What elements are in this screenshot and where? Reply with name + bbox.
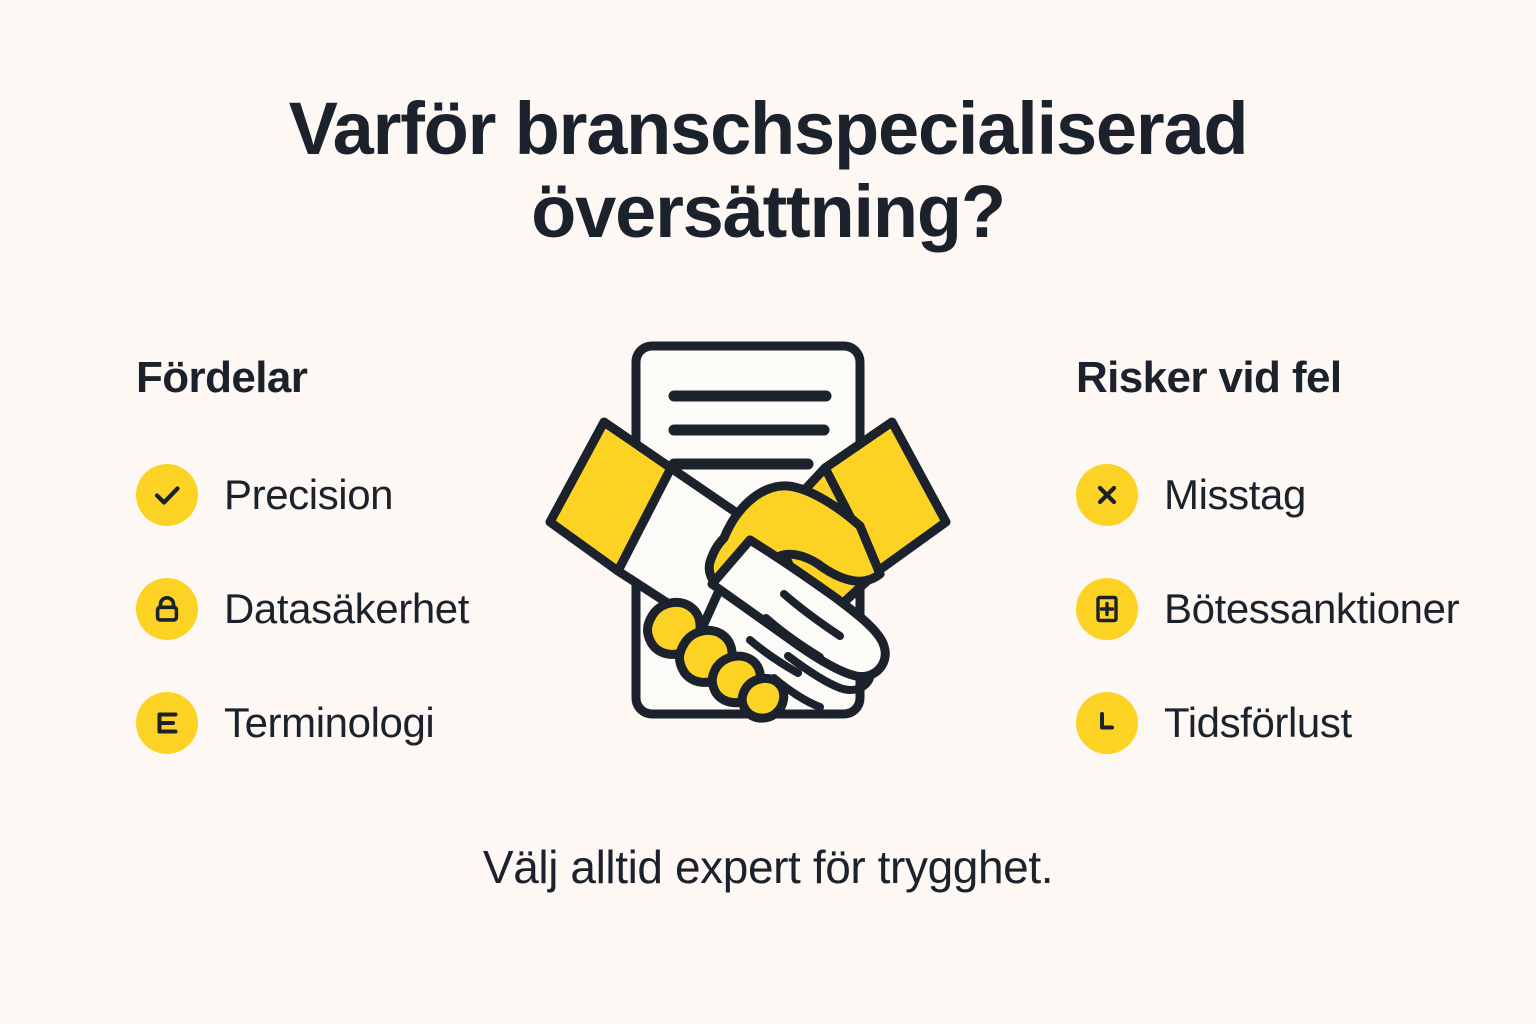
list-item-datasakerhet: Datasäkerhet: [136, 578, 469, 640]
document-plus-icon: [1076, 578, 1138, 640]
page-title-line-1: Varför branschspecialiserad: [0, 88, 1536, 171]
page-title-line-2: översättning?: [0, 171, 1536, 254]
risks-column: Risker vid fel Misstag Bötessanktione: [1076, 356, 1459, 754]
list-item-misstag: Misstag: [1076, 464, 1459, 526]
poster-root: Varför branschspecialiserad översättning…: [0, 0, 1536, 1024]
check-icon: [136, 464, 198, 526]
risks-list: Misstag Bötessanktioner Tidsförlust: [1076, 464, 1459, 754]
list-item-label: Bötessanktioner: [1164, 588, 1459, 630]
benefits-column: Fördelar Precision Datasäkerhet: [136, 356, 469, 754]
risks-heading: Risker vid fel: [1076, 356, 1459, 400]
glossary-list-icon: [136, 692, 198, 754]
list-item-label: Misstag: [1164, 474, 1306, 516]
benefits-heading: Fördelar: [136, 356, 469, 400]
lock-icon: [136, 578, 198, 640]
list-item-label: Datasäkerhet: [224, 588, 469, 630]
cross-icon: [1076, 464, 1138, 526]
list-item-tidsforlust: Tidsförlust: [1076, 692, 1459, 754]
page-title: Varför branschspecialiserad översättning…: [0, 88, 1536, 254]
handshake-illustration: [488, 326, 1008, 738]
list-item-terminologi: Terminologi: [136, 692, 469, 754]
caption-text: Välj alltid expert för trygghet.: [0, 840, 1536, 894]
list-item-precision: Precision: [136, 464, 469, 526]
benefits-list: Precision Datasäkerhet: [136, 464, 469, 754]
list-item-label: Tidsförlust: [1164, 702, 1352, 744]
list-item-botessanktioner: Bötessanktioner: [1076, 578, 1459, 640]
list-item-label: Terminologi: [224, 702, 434, 744]
clock-icon: [1076, 692, 1138, 754]
list-item-label: Precision: [224, 474, 393, 516]
